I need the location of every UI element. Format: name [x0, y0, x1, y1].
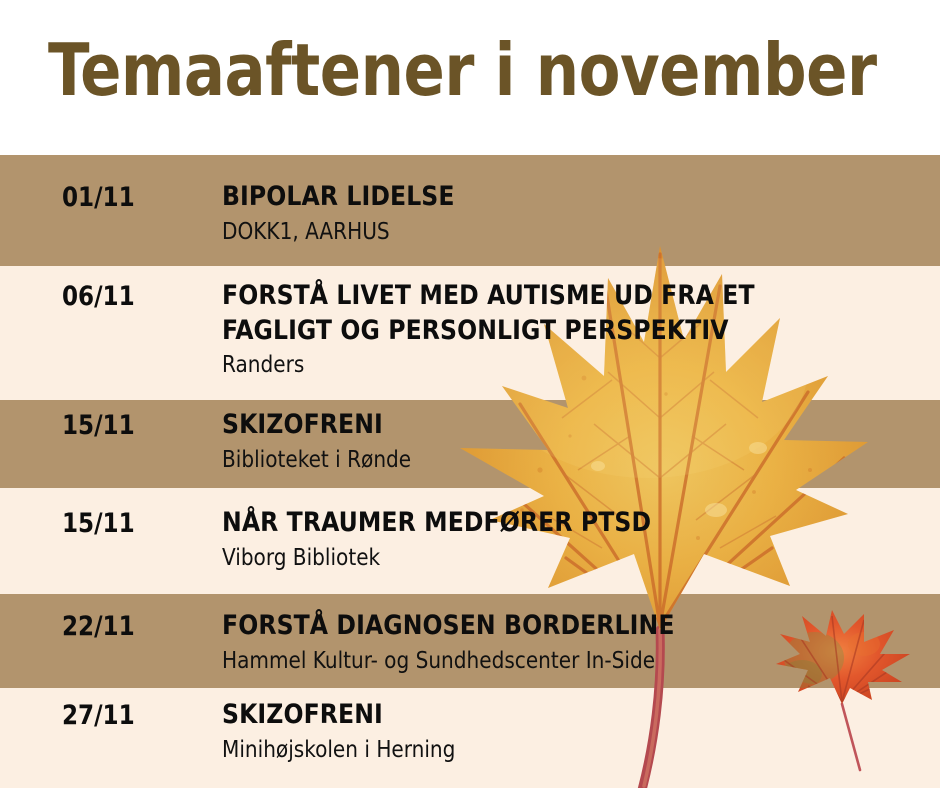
event-title-line: SKIZOFRENI [222, 408, 901, 443]
event-title-line: FORSTÅ LIVET MED AUTISME UD FRA ET [222, 279, 901, 314]
event-date: 06/11 [62, 281, 135, 312]
event-venue: Biblioteket i Rønde [222, 446, 901, 475]
event-venue: Randers [222, 351, 901, 380]
poster-canvas: Temaaftener i november 01/11BIPOLAR LIDE… [0, 0, 940, 788]
event-body: SKIZOFRENIMinihøjskolen i Herning [222, 698, 922, 764]
event-venue: Hammel Kultur- og Sundhedscenter In-Side [222, 647, 901, 676]
event-title-line: FAGLIGT OG PERSONLIGT PERSPEKTIV [222, 314, 901, 349]
event-venue: Viborg Bibliotek [222, 544, 901, 573]
event-title-line: BIPOLAR LIDELSE [222, 180, 901, 215]
event-body: BIPOLAR LIDELSEDOKK1, AARHUS [222, 180, 922, 246]
event-body: NÅR TRAUMER MEDFØRER PTSDViborg Bibliote… [222, 506, 922, 572]
event-date: 15/11 [62, 508, 135, 539]
event-venue: Minihøjskolen i Herning [222, 736, 901, 765]
event-date: 27/11 [62, 700, 135, 731]
event-title-line: SKIZOFRENI [222, 698, 901, 733]
event-date: 01/11 [62, 182, 135, 213]
event-body: SKIZOFRENIBiblioteket i Rønde [222, 408, 922, 474]
poster-header: Temaaftener i november [0, 0, 940, 155]
event-title-line: FORSTÅ DIAGNOSEN BORDERLINE [222, 609, 901, 644]
event-date: 22/11 [62, 611, 135, 642]
event-venue: DOKK1, AARHUS [222, 218, 901, 247]
event-title-line: NÅR TRAUMER MEDFØRER PTSD [222, 506, 901, 541]
page-title: Temaaftener i november [48, 34, 877, 106]
event-date: 15/11 [62, 410, 135, 441]
event-body: FORSTÅ DIAGNOSEN BORDERLINEHammel Kultur… [222, 609, 922, 675]
event-body: FORSTÅ LIVET MED AUTISME UD FRA ETFAGLIG… [222, 279, 922, 380]
